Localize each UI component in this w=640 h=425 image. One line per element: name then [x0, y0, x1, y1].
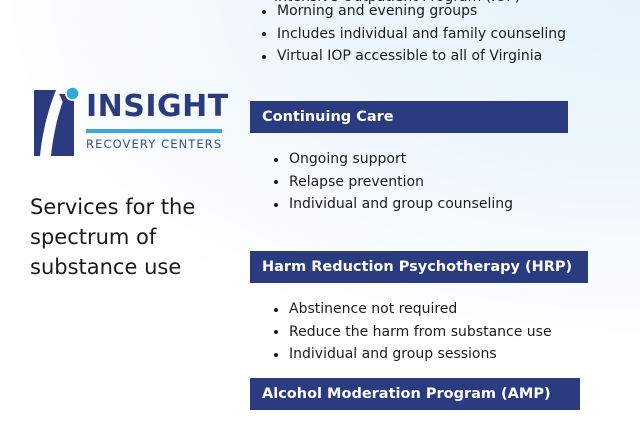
bullet-dot-icon [274, 330, 278, 334]
list-item: Ongoing support [262, 148, 640, 171]
bullet-dot-icon [262, 55, 266, 59]
section-alcohol-moderation-program: Alcohol Moderation Program (AMP) [250, 378, 640, 410]
left-column: INSIGHT RECOVERY CENTERS Services for th… [0, 0, 250, 425]
section-header-amp: Alcohol Moderation Program (AMP) [250, 378, 580, 410]
list-item-label: Virtual IOP accessible to all of Virgini… [277, 48, 542, 64]
right-column: Intensive Outpatient Program (IOP) Morni… [250, 0, 640, 425]
list-item-label: Abstinence not required [289, 301, 457, 317]
list-item: Abstinence not required [262, 298, 640, 321]
list-item: Includes individual and family counselin… [250, 23, 628, 46]
bullet-dot-icon [274, 203, 278, 207]
section-harm-reduction-psychotherapy: Harm Reduction Psychotherapy (HRP) Absti… [250, 251, 640, 366]
section-header-hrp: Harm Reduction Psychotherapy (HRP) [250, 251, 588, 283]
list-item-label: Ongoing support [289, 151, 406, 167]
list-item-label: Individual and group counseling [289, 196, 513, 212]
bullet-dot-icon [262, 32, 266, 36]
section-header-continuing-care: Continuing Care [250, 101, 568, 133]
top-bullet-list: Morning and evening groups Includes indi… [250, 0, 628, 68]
logo-secondary-text: RECOVERY CENTERS [86, 137, 222, 151]
list-item: Individual and group sessions [262, 343, 640, 366]
bullet-dot-icon [274, 353, 278, 357]
slide-canvas: INSIGHT RECOVERY CENTERS Services for th… [0, 0, 640, 425]
bullet-dot-icon [274, 158, 278, 162]
continuing-care-bullet-list: Ongoing support Relapse prevention Indiv… [262, 148, 640, 216]
list-item-label: Reduce the harm from substance use [289, 324, 552, 340]
list-item: Relapse prevention [262, 171, 640, 194]
logo-wordmark: INSIGHT RECOVERY CENTERS [86, 90, 222, 151]
section-continuing-care: Continuing Care Ongoing support Relapse … [250, 101, 640, 216]
insight-logo-mark-icon [34, 84, 82, 156]
list-item: Individual and group counseling [262, 193, 640, 216]
logo-primary-text: INSIGHT [86, 90, 222, 124]
list-item: Reduce the harm from substance use [262, 321, 640, 344]
tagline-text: Services for the spectrum of substance u… [30, 192, 230, 282]
list-item-label: Includes individual and family counselin… [277, 26, 566, 42]
bullet-dot-icon [262, 10, 266, 14]
list-item: Virtual IOP accessible to all of Virgini… [250, 45, 628, 68]
list-item-label: Relapse prevention [289, 174, 424, 190]
list-item-label: Morning and evening groups [277, 3, 477, 19]
list-item: Morning and evening groups [250, 0, 628, 23]
bullet-dot-icon [274, 180, 278, 184]
logo-divider-rule [86, 129, 222, 133]
insight-recovery-centers-logo: INSIGHT RECOVERY CENTERS [34, 84, 222, 164]
hrp-bullet-list: Abstinence not required Reduce the harm … [262, 298, 640, 366]
bullet-dot-icon [274, 308, 278, 312]
section-body-continuing-care: Ongoing support Relapse prevention Indiv… [250, 148, 640, 216]
section-body-hrp: Abstinence not required Reduce the harm … [250, 298, 640, 366]
list-item-label: Individual and group sessions [289, 346, 497, 362]
